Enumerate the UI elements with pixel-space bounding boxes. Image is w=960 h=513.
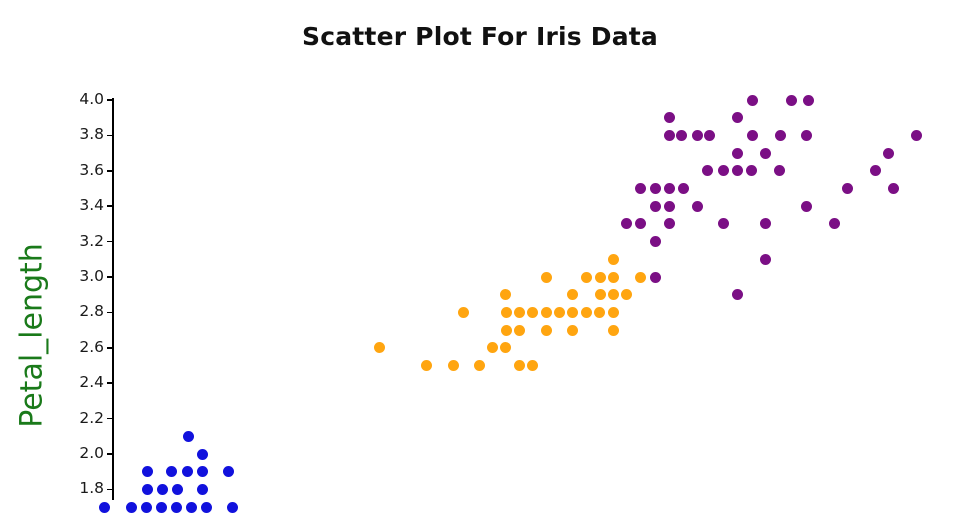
y-axis-tick-label: 1.8 (79, 479, 104, 497)
scatter-point-virginica (801, 130, 812, 141)
y-axis-tick-labels: 4.03.83.63.43.23.02.82.62.42.22.01.8 (38, 0, 104, 500)
scatter-point-versicolor (514, 307, 525, 318)
scatter-point-versicolor (594, 307, 605, 318)
scatter-point-versicolor (487, 342, 498, 353)
scatter-point-versicolor (595, 289, 606, 300)
scatter-point-setosa (186, 502, 197, 513)
scatter-point-virginica (664, 130, 675, 141)
scatter-point-setosa (126, 502, 137, 513)
scatter-point-virginica (746, 165, 757, 176)
scatter-point-virginica (702, 165, 713, 176)
scatter-point-virginica (774, 165, 785, 176)
scatter-point-virginica (760, 218, 771, 229)
scatter-point-virginica (829, 218, 840, 229)
scatter-point-versicolor (567, 325, 578, 336)
y-axis-tick-label: 3.0 (79, 267, 104, 285)
scatter-point-virginica (760, 148, 771, 159)
scatter-point-virginica (678, 183, 689, 194)
y-axis-tick-mark (107, 312, 113, 314)
scatter-point-versicolor (567, 307, 578, 318)
scatter-point-virginica (650, 272, 661, 283)
scatter-point-versicolor (567, 289, 578, 300)
scatter-point-virginica (786, 95, 797, 106)
scatter-point-versicolor (608, 272, 619, 283)
scatter-point-versicolor (458, 307, 469, 318)
scatter-point-virginica (635, 183, 646, 194)
scatter-point-setosa (156, 502, 167, 513)
scatter-point-virginica (718, 218, 729, 229)
scatter-point-versicolor (514, 360, 525, 371)
scatter-point-virginica (747, 95, 758, 106)
y-axis-tick-mark (107, 241, 113, 243)
y-axis-tick-label: 3.2 (79, 232, 104, 250)
scatter-point-virginica (775, 130, 786, 141)
scatter-point-virginica (883, 148, 894, 159)
y-axis-tick-label: 2.4 (79, 373, 104, 391)
scatter-point-virginica (732, 289, 743, 300)
scatter-point-setosa (223, 466, 234, 477)
scatter-point-setosa (99, 502, 110, 513)
scatter-point-virginica (704, 130, 715, 141)
scatter-point-virginica (664, 218, 675, 229)
y-axis-tick-mark (107, 276, 113, 278)
scatter-point-virginica (692, 130, 703, 141)
scatter-point-versicolor (608, 325, 619, 336)
scatter-point-virginica (664, 183, 675, 194)
scatter-point-virginica (621, 218, 632, 229)
scatter-point-virginica (760, 254, 771, 265)
y-axis-tick-label: 2.2 (79, 409, 104, 427)
y-axis-tick-mark (107, 170, 113, 172)
scatter-point-versicolor (527, 307, 538, 318)
y-axis-tick-mark (107, 418, 113, 420)
plot-area (113, 99, 960, 500)
y-axis-tick-label: 2.8 (79, 302, 104, 320)
scatter-point-versicolor (595, 272, 606, 283)
scatter-point-versicolor (501, 307, 512, 318)
scatter-point-virginica (911, 130, 922, 141)
scatter-point-setosa (171, 502, 182, 513)
scatter-point-virginica (664, 112, 675, 123)
scatter-point-virginica (732, 148, 743, 159)
scatter-point-virginica (803, 95, 814, 106)
scatter-point-setosa (197, 449, 208, 460)
scatter-point-virginica (718, 165, 729, 176)
scatter-point-versicolor (500, 342, 511, 353)
scatter-point-setosa (182, 466, 193, 477)
scatter-point-versicolor (448, 360, 459, 371)
scatter-point-virginica (801, 201, 812, 212)
scatter-point-versicolor (527, 360, 538, 371)
scatter-point-setosa (166, 466, 177, 477)
scatter-point-virginica (664, 201, 675, 212)
scatter-point-setosa (227, 502, 238, 513)
scatter-point-setosa (201, 502, 212, 513)
scatter-point-versicolor (554, 307, 565, 318)
scatter-point-virginica (842, 183, 853, 194)
y-axis-tick-label: 3.4 (79, 196, 104, 214)
scatter-point-setosa (157, 484, 168, 495)
scatter-point-virginica (650, 183, 661, 194)
y-axis-tick-label: 4.0 (79, 90, 104, 108)
scatter-point-virginica (732, 112, 743, 123)
scatter-point-versicolor (621, 289, 632, 300)
y-axis-tick-label: 2.6 (79, 338, 104, 356)
scatter-point-versicolor (581, 272, 592, 283)
scatter-point-versicolor (608, 254, 619, 265)
scatter-point-virginica (747, 130, 758, 141)
scatter-point-setosa (197, 466, 208, 477)
y-axis-tick-label: 2.0 (79, 444, 104, 462)
scatter-point-virginica (870, 165, 881, 176)
y-axis-tick-mark (107, 135, 113, 137)
scatter-point-setosa (172, 484, 183, 495)
scatter-plot-figure: Scatter Plot For Iris Data Petal_length … (0, 0, 960, 500)
y-axis-tick-mark (107, 453, 113, 455)
scatter-point-versicolor (421, 360, 432, 371)
scatter-point-setosa (197, 484, 208, 495)
scatter-point-virginica (650, 236, 661, 247)
y-axis-tick-label: 3.8 (79, 125, 104, 143)
scatter-point-versicolor (500, 289, 511, 300)
y-axis-tick-mark (107, 205, 113, 207)
scatter-point-setosa (142, 484, 153, 495)
scatter-point-versicolor (374, 342, 385, 353)
scatter-point-versicolor (541, 307, 552, 318)
y-axis-tick-mark (107, 99, 113, 101)
scatter-point-versicolor (514, 325, 525, 336)
scatter-point-versicolor (635, 272, 646, 283)
scatter-point-versicolor (541, 272, 552, 283)
scatter-point-versicolor (608, 307, 619, 318)
scatter-point-virginica (676, 130, 687, 141)
scatter-point-setosa (141, 502, 152, 513)
scatter-point-setosa (142, 466, 153, 477)
scatter-point-versicolor (501, 325, 512, 336)
y-axis-tick-label: 3.6 (79, 161, 104, 179)
scatter-point-virginica (650, 201, 661, 212)
scatter-point-versicolor (581, 307, 592, 318)
scatter-point-virginica (692, 201, 703, 212)
scatter-point-versicolor (608, 289, 619, 300)
scatter-point-virginica (888, 183, 899, 194)
scatter-point-virginica (635, 218, 646, 229)
scatter-point-virginica (732, 165, 743, 176)
scatter-point-versicolor (541, 325, 552, 336)
scatter-point-setosa (183, 431, 194, 442)
scatter-point-versicolor (474, 360, 485, 371)
y-axis-tick-mark (107, 347, 113, 349)
y-axis-tick-mark (107, 382, 113, 384)
page-title: Scatter Plot For Iris Data (0, 22, 960, 51)
y-axis-tick-mark (107, 489, 113, 491)
